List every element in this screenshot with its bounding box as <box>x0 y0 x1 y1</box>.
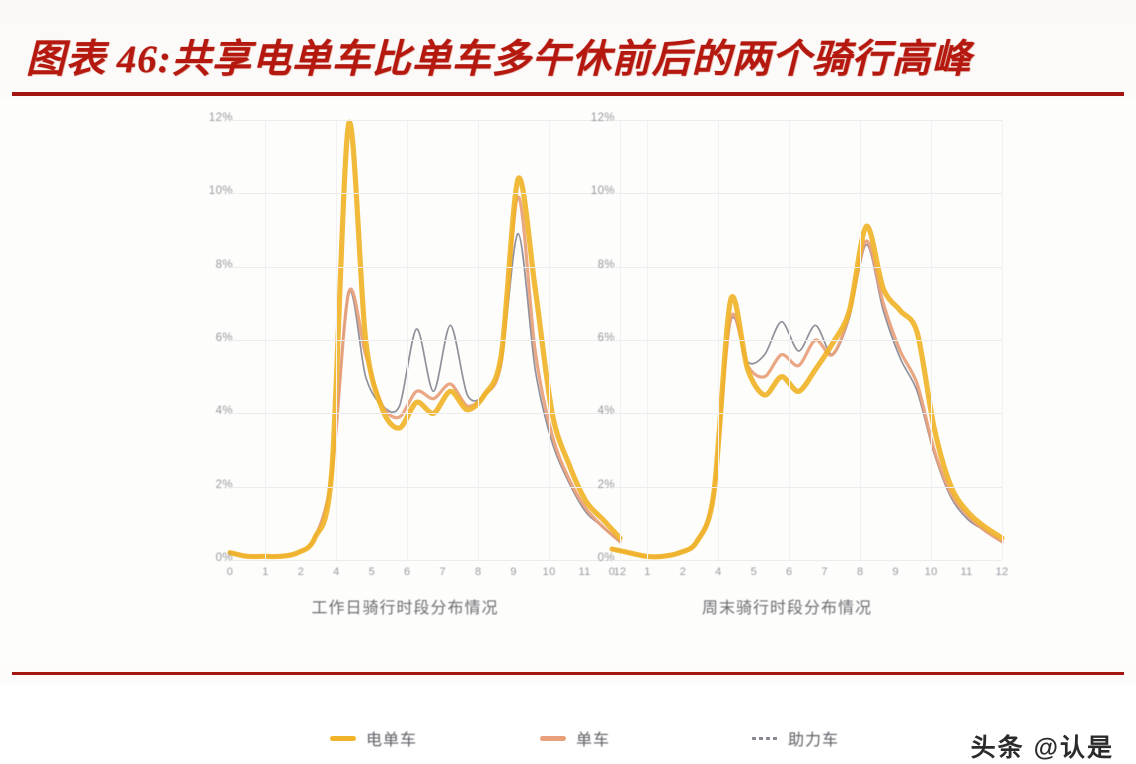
y-axis-label: 6% <box>598 332 615 344</box>
gridline-horizontal <box>612 193 1002 194</box>
gridline-vertical <box>478 120 479 560</box>
title-band: 图表 46:共享电单车比单车多午休前后的两个骑行高峰 <box>0 0 1136 96</box>
figure-page: 图表 46:共享电单车比单车多午休前后的两个骑行高峰 工作日骑行时段分布情况 1… <box>0 0 1136 684</box>
x-axis-label: 1 <box>262 566 268 578</box>
y-axis-label: 0% <box>598 552 615 564</box>
x-axis-label: 1 <box>644 566 650 578</box>
y-axis-label: 4% <box>216 405 233 417</box>
x-axis-label: 0 <box>227 566 233 578</box>
y-axis-label: 6% <box>216 332 233 344</box>
legend-label: 助力车 <box>788 726 839 750</box>
x-axis-label: 2 <box>298 566 304 578</box>
chart-caption-weekend: 周末骑行时段分布情况 <box>557 594 1017 618</box>
x-axis-label: 0 <box>609 566 615 578</box>
x-axis-label: 9 <box>510 566 516 578</box>
gridline-vertical <box>549 120 550 560</box>
y-axis-label: 2% <box>598 479 615 491</box>
y-axis-label: 10% <box>209 185 233 197</box>
x-axis-label: 5 <box>751 566 757 578</box>
x-axis-label: 8 <box>475 566 481 578</box>
legend-label: 单车 <box>576 726 610 750</box>
series-line-助力车 <box>612 245 1002 557</box>
y-axis-label: 8% <box>216 259 233 271</box>
x-axis-label: 6 <box>404 566 410 578</box>
x-axis-label: 10 <box>925 566 938 578</box>
gridline-vertical <box>1002 120 1003 560</box>
x-axis-label: 7 <box>440 566 446 578</box>
gridline-horizontal <box>612 413 1002 414</box>
gridline-vertical <box>718 120 719 560</box>
x-axis-label: 6 <box>786 566 792 578</box>
chart-panel-weekend: 周末骑行时段分布情况 12%10%8%6%4%2%0%0124567891011… <box>557 110 1017 610</box>
gridline-vertical <box>336 120 337 560</box>
title-divider <box>12 92 1124 96</box>
charts-container: 工作日骑行时段分布情况 12%10%8%6%4%2%0%012456789101… <box>0 100 1136 666</box>
watermark: 头条 @认是 <box>971 728 1114 764</box>
legend-swatch-icon <box>330 736 356 741</box>
page-title: 图表 46:共享电单车比单车多午休前后的两个骑行高峰 <box>26 28 1116 84</box>
x-axis-label: 9 <box>892 566 898 578</box>
gridline-horizontal <box>612 267 1002 268</box>
gridline-vertical <box>265 120 266 560</box>
series-line-单车 <box>612 241 1002 557</box>
y-axis-label: 0% <box>216 552 233 564</box>
x-axis-label: 7 <box>822 566 828 578</box>
gridline-horizontal <box>612 560 1002 561</box>
y-axis-label: 2% <box>216 479 233 491</box>
x-axis-label: 11 <box>961 566 973 578</box>
y-axis-label: 10% <box>591 185 615 197</box>
x-axis-label: 10 <box>543 566 556 578</box>
gridline-vertical <box>647 120 648 560</box>
chart-legend: 电单车单车助力车 <box>0 720 1136 760</box>
x-axis-label: 8 <box>857 566 863 578</box>
legend-item[interactable]: 单车 <box>540 726 610 750</box>
legend-item[interactable]: 电单车 <box>330 726 417 750</box>
x-axis-label: 4 <box>715 566 721 578</box>
legend-swatch-icon <box>540 736 566 741</box>
y-axis-label: 4% <box>598 405 615 417</box>
bottom-divider <box>12 672 1124 675</box>
gridline-vertical <box>407 120 408 560</box>
gridline-horizontal <box>612 487 1002 488</box>
series-line-电单车 <box>612 226 1002 557</box>
gridline-vertical <box>789 120 790 560</box>
gridline-vertical <box>860 120 861 560</box>
gridline-horizontal <box>612 120 1002 121</box>
legend-label: 电单车 <box>366 726 417 750</box>
legend-item[interactable]: 助力车 <box>752 726 839 750</box>
legend-swatch-icon <box>752 737 778 740</box>
gridline-horizontal <box>612 340 1002 341</box>
x-axis-label: 5 <box>369 566 375 578</box>
x-axis-label: 4 <box>333 566 339 578</box>
y-axis-label: 12% <box>591 112 615 124</box>
y-axis-label: 12% <box>209 112 233 124</box>
x-axis-label: 12 <box>996 566 1009 578</box>
x-axis-label: 2 <box>680 566 686 578</box>
y-axis-label: 8% <box>598 259 615 271</box>
gridline-vertical <box>931 120 932 560</box>
